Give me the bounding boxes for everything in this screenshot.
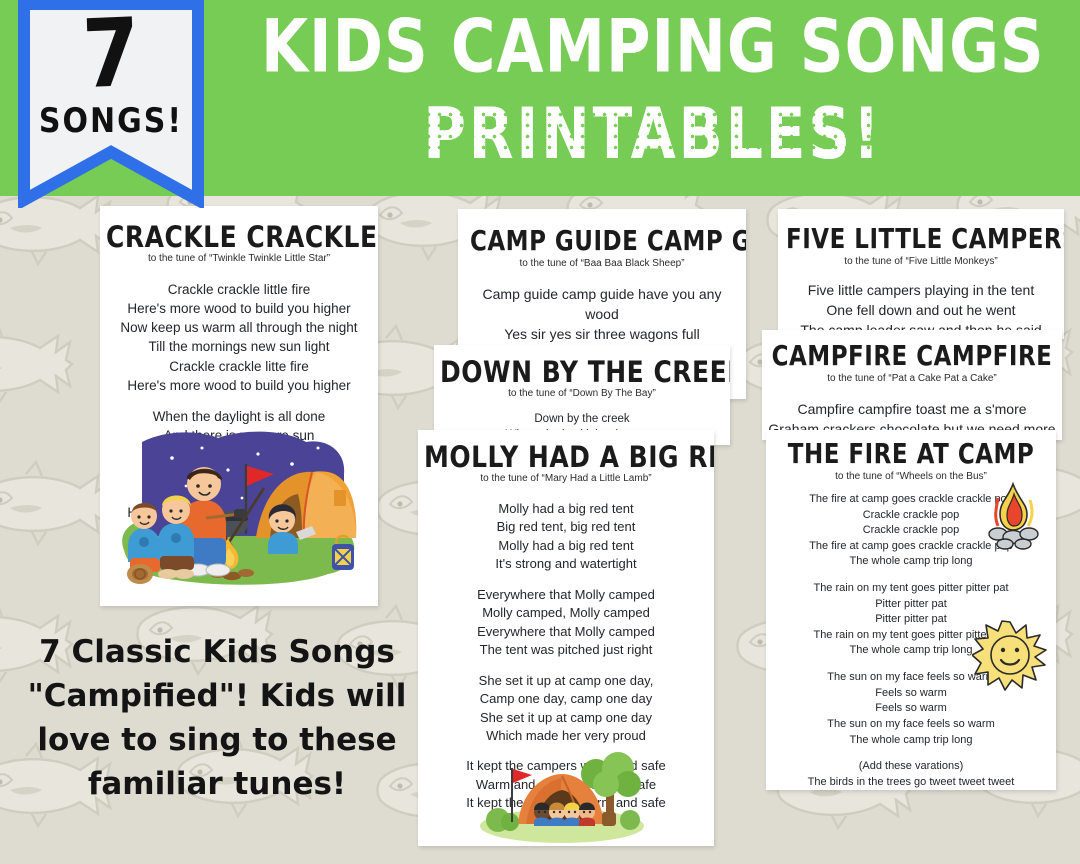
campfire-scene-illustration bbox=[106, 428, 372, 600]
lyric-line: It's strong and watertight bbox=[424, 555, 708, 573]
song-title: CAMPFIRE CAMPFIRE bbox=[768, 344, 1056, 371]
lyric-line: (Add these varations) bbox=[772, 759, 1050, 775]
lyric-line: She set it up at camp one day bbox=[424, 709, 708, 727]
song-title: THE FIRE AT CAMP bbox=[772, 442, 1050, 469]
promo-blurb: 7 Classic Kids Songs "Campified"! Kids w… bbox=[26, 630, 408, 806]
lyric-line: Now keep us warm all through the night bbox=[106, 318, 372, 337]
lyric-line: Crackle crackle litte fire bbox=[106, 357, 372, 376]
lyric-line: Molly had a big red tent bbox=[424, 500, 708, 518]
song-title: MOLLY HAD A BIG RED TENT bbox=[424, 442, 708, 472]
lyric-line: She set it up at camp one day, bbox=[424, 672, 708, 690]
song-title: CAMP GUIDE CAMP GUIDE bbox=[470, 229, 734, 256]
song-tune: to the tune of “Five Little Monkeys” bbox=[786, 256, 1056, 267]
songs-count-pennant: 7 SONGS! bbox=[18, 0, 204, 208]
poster-canvas: KIDS CAMPING SONGS PRINTABLES! 7 SONGS! … bbox=[0, 0, 1080, 864]
lyric-line: Everywhere that Molly camped bbox=[424, 623, 708, 641]
printable-card-five-little-campers[interactable]: FIVE LITTLE CAMPERS to the tune of “Five… bbox=[778, 209, 1064, 339]
lyric-line: Till the mornings new sun light bbox=[106, 337, 372, 356]
lyric-line: Everywhere that Molly camped bbox=[424, 586, 708, 604]
lyric-line: The whole camp trip long bbox=[772, 554, 1050, 570]
lyric-stanza: Crackle crackle little fire Here's more … bbox=[106, 280, 372, 395]
lyric-line: Molly camped, Molly camped bbox=[424, 604, 708, 622]
song-tune: to the tune of “Mary Had a Little Lamb” bbox=[424, 473, 708, 484]
lyric-stanza: Molly had a big red tent Big red tent, b… bbox=[424, 500, 708, 574]
lyric-line: Crackle crackle little fire bbox=[106, 280, 372, 299]
lyric-line: Big red tent, big red tent bbox=[424, 518, 708, 536]
lyric-line: Down by the creek bbox=[440, 411, 724, 427]
bonfire-icon bbox=[978, 480, 1048, 552]
song-title: FIVE LITTLE CAMPERS bbox=[786, 227, 1056, 254]
lyric-line: The sun on my face feels so warm bbox=[772, 717, 1050, 733]
header-title-line2-wrap: PRINTABLES! bbox=[423, 98, 882, 156]
lyric-line: Here's more wood to build you higher bbox=[106, 376, 372, 395]
lyric-line: Camp one day, camp one day bbox=[424, 690, 708, 708]
printable-card-crackle-crackle-little-fire[interactable]: CRACKLE CRACKLE LITTLE FIRE to the tune … bbox=[100, 206, 378, 606]
printable-card-the-fire-at-camp[interactable]: THE FIRE AT CAMP to the tune of “Wheels … bbox=[766, 430, 1056, 790]
song-tune: to the tune of “Down By The Bay” bbox=[440, 388, 724, 399]
lyric-stanza: (Add these varations) The birds in the t… bbox=[772, 759, 1050, 790]
kids-in-tent-illustration bbox=[462, 750, 662, 846]
lyric-stanza: Everywhere that Molly camped Molly campe… bbox=[424, 586, 708, 660]
lyric-stanza: She set it up at camp one day, Camp one … bbox=[424, 672, 708, 746]
lyric-line: Camp guide camp guide have you any wood bbox=[470, 285, 734, 325]
lyric-line: The whole camp trip long bbox=[772, 733, 1050, 749]
pennant-number: 7 bbox=[17, 4, 206, 106]
pennant-label: SONGS! bbox=[18, 102, 204, 141]
song-title: CRACKLE CRACKLE LITTLE FIRE bbox=[106, 222, 372, 252]
lyric-line: When the daylight is all done bbox=[106, 407, 372, 426]
lyric-line: One fell down and out he went bbox=[786, 301, 1056, 321]
sun-icon bbox=[972, 620, 1048, 692]
lyric-line: Yes sir yes sir three wagons full bbox=[470, 325, 734, 345]
lyric-line: The birds in the trees go tweet tweet tw… bbox=[772, 775, 1050, 790]
lyric-line: Five little campers playing in the tent bbox=[786, 281, 1056, 301]
header-title-line1: KIDS CAMPING SONGS bbox=[261, 10, 1045, 83]
lyric-line: Which made her very proud bbox=[424, 727, 708, 745]
lyric-line: Campfire campfire toast me a s'more bbox=[768, 400, 1056, 420]
lyric-line: Pitter pitter pat bbox=[772, 597, 1050, 613]
lyric-line: Here's more wood to build you higher bbox=[106, 299, 372, 318]
song-title: DOWN BY THE CREEK bbox=[440, 357, 724, 387]
printable-card-molly-had-a-big-red-tent[interactable]: MOLLY HAD A BIG RED TENT to the tune of … bbox=[418, 430, 714, 846]
header-title-group: KIDS CAMPING SONGS PRINTABLES! bbox=[228, 2, 1078, 192]
lyric-line: The rain on my tent goes pitter pitter p… bbox=[772, 581, 1050, 597]
lyric-line: The tent was pitched just right bbox=[424, 641, 708, 659]
song-tune: to the tune of “Baa Baa Black Sheep” bbox=[470, 258, 734, 269]
song-tune: to the tune of “Twinkle Twinkle Little S… bbox=[106, 253, 372, 264]
lyric-line: Molly had a big red tent bbox=[424, 537, 708, 555]
song-tune: to the tune of “Pat a Cake Pat a Cake” bbox=[768, 373, 1056, 384]
printable-card-campfire-campfire[interactable]: CAMPFIRE CAMPFIRE to the tune of “Pat a … bbox=[762, 330, 1062, 440]
header-title-line2: PRINTABLES! bbox=[423, 98, 882, 169]
lyric-line: Feels so warm bbox=[772, 701, 1050, 717]
